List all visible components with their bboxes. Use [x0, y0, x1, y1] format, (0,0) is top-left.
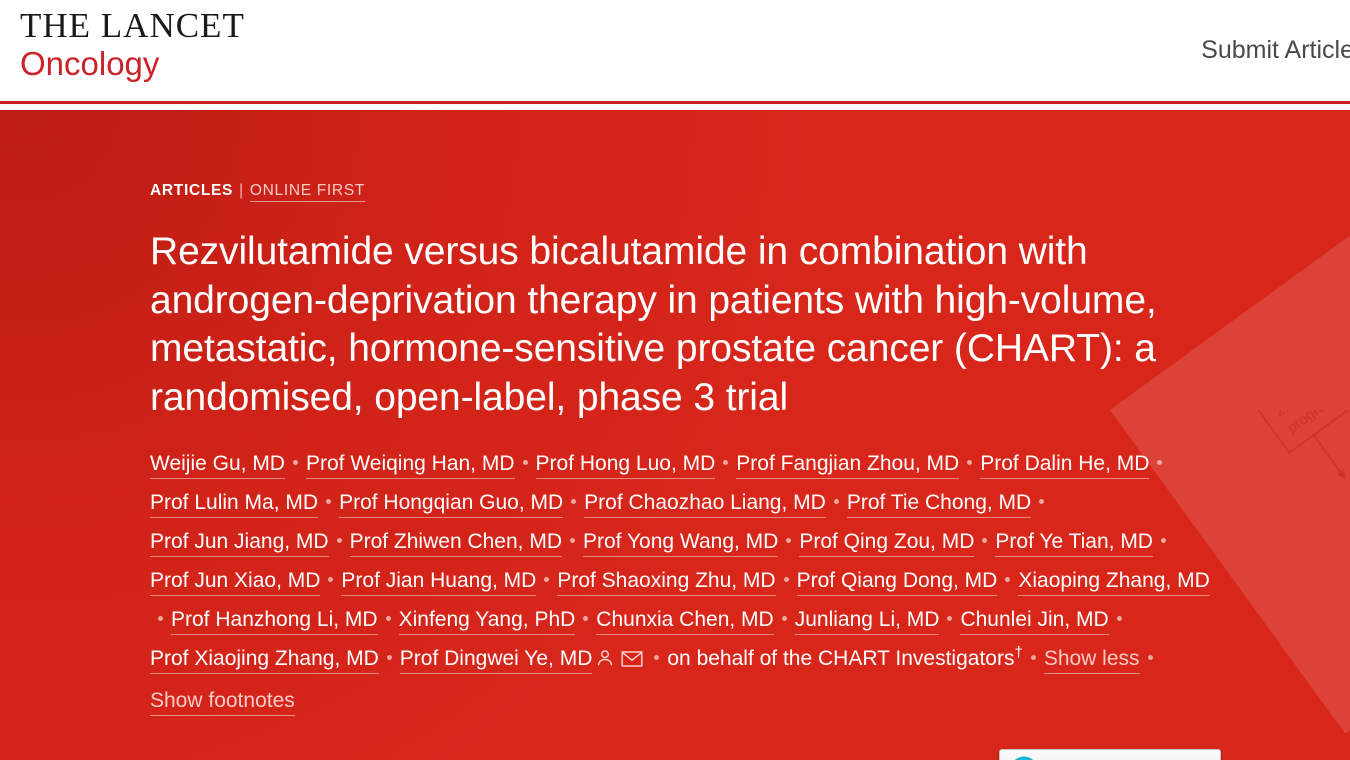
author-separator-dot: [386, 616, 391, 621]
article-type-label: ARTICLES: [150, 182, 233, 199]
brand-title-lancet: THE LANCET: [20, 8, 245, 43]
author-separator-dot: [1005, 577, 1010, 582]
author-link[interactable]: Prof Qiang Dong, MD: [797, 569, 998, 596]
breadcrumb-divider: |: [239, 182, 244, 199]
online-first-link[interactable]: ONLINE FIRST: [250, 182, 365, 202]
author-separator-dot: [337, 538, 342, 543]
author-link[interactable]: Chunxia Chen, MD: [596, 608, 773, 635]
lancet-oncology-logo[interactable]: THE LANCET Oncology: [20, 8, 245, 84]
footnote-marker: †: [1014, 644, 1022, 661]
author-link[interactable]: Prof Jun Xiao, MD: [150, 569, 320, 596]
author-link[interactable]: Prof Dalin He, MD: [980, 452, 1149, 479]
author-separator-dot: [967, 460, 972, 465]
author-link[interactable]: Prof Yong Wang, MD: [583, 530, 778, 557]
crossmark-check-for-updates-button[interactable]: Check for updates: [999, 749, 1221, 760]
author-link[interactable]: Chunlei Jin, MD: [960, 608, 1108, 635]
author-separator-dot: [1117, 616, 1122, 621]
author-separator-dot: [326, 499, 331, 504]
crossmark-icon: [1010, 756, 1038, 760]
corresponding-author-link[interactable]: Prof Dingwei Ye, MD: [400, 647, 593, 674]
person-icon[interactable]: [595, 642, 615, 681]
author-separator-dot: [571, 499, 576, 504]
author-separator-dot: [654, 655, 659, 660]
author-link[interactable]: Prof Zhiwen Chen, MD: [350, 530, 562, 557]
author-link[interactable]: Prof Hongqian Guo, MD: [339, 491, 563, 518]
site-header: THE LANCET Oncology Submit Article: [0, 0, 1350, 104]
watermark-box1-text-2: progression-free: [1284, 410, 1350, 437]
brand-title-oncology: Oncology: [20, 45, 245, 84]
author-link[interactable]: Xinfeng Yang, PhD: [399, 608, 576, 635]
author-separator-dot: [387, 655, 392, 660]
author-link[interactable]: Prof Qing Zou, MD: [799, 530, 974, 557]
author-separator-dot: [947, 616, 952, 621]
author-separator-dot: [523, 460, 528, 465]
author-separator-dot: [293, 460, 298, 465]
author-link[interactable]: Prof Tie Chong, MD: [847, 491, 1031, 518]
article-header-content: ARTICLES|ONLINE FIRST Rezvilutamide vers…: [150, 182, 1250, 760]
author-link[interactable]: Prof Chaozhao Liang, MD: [584, 491, 826, 518]
show-less-link[interactable]: Show less: [1044, 647, 1140, 674]
author-link[interactable]: Prof Lulin Ma, MD: [150, 491, 318, 518]
group-author-label: on behalf of the CHART Investigators: [667, 647, 1014, 670]
author-link[interactable]: Weijie Gu, MD: [150, 452, 285, 479]
author-link[interactable]: Xiaoping Zhang, MD: [1018, 569, 1209, 596]
author-separator-dot: [784, 577, 789, 582]
author-separator-dot: [1031, 655, 1036, 660]
author-separator-dot: [834, 499, 839, 504]
author-separator-dot: [982, 538, 987, 543]
watermark-box1-text: 218 ongoing at interim: [1272, 410, 1350, 420]
author-link[interactable]: Prof Jian Huang, MD: [341, 569, 536, 596]
author-separator-dot: [328, 577, 333, 582]
author-separator-dot: [583, 616, 588, 621]
author-separator-dot: [1157, 460, 1162, 465]
author-link[interactable]: Prof Hanzhong Li, MD: [171, 608, 378, 635]
author-link[interactable]: Prof Hong Luo, MD: [536, 452, 716, 479]
author-separator-dot: [786, 538, 791, 543]
author-link[interactable]: Prof Weiqing Han, MD: [306, 452, 515, 479]
author-separator-dot: [570, 538, 575, 543]
author-list: Weijie Gu, MDProf Weiqing Han, MDProf Ho…: [150, 444, 1230, 720]
author-separator-dot: [1148, 655, 1153, 660]
breadcrumb: ARTICLES|ONLINE FIRST: [150, 182, 1250, 200]
author-link[interactable]: Junliang Li, MD: [795, 608, 940, 635]
publication-meta: Published: September 05, 2022 DOI: https…: [150, 749, 1250, 760]
author-separator-dot: [158, 616, 163, 621]
author-separator-dot: [782, 616, 787, 621]
author-separator-dot: [544, 577, 549, 582]
article-hero-banner: 218 ongoing at interim progression-free …: [0, 110, 1350, 760]
email-icon[interactable]: [621, 642, 643, 681]
show-footnotes-link[interactable]: Show footnotes: [150, 689, 295, 716]
header-divider-rule: [0, 101, 1350, 104]
page-title: Rezvilutamide versus bicalutamide in com…: [150, 228, 1250, 422]
author-separator-dot: [723, 460, 728, 465]
author-separator-dot: [1039, 499, 1044, 504]
author-link[interactable]: Prof Shaoxing Zhu, MD: [557, 569, 775, 596]
author-link[interactable]: Prof Fangjian Zhou, MD: [736, 452, 959, 479]
author-separator-dot: [1161, 538, 1166, 543]
submit-article-link[interactable]: Submit Article: [1201, 36, 1350, 65]
author-link[interactable]: Prof Jun Jiang, MD: [150, 530, 329, 557]
author-link[interactable]: Prof Ye Tian, MD: [995, 530, 1153, 557]
author-link[interactable]: Prof Xiaojing Zhang, MD: [150, 647, 379, 674]
